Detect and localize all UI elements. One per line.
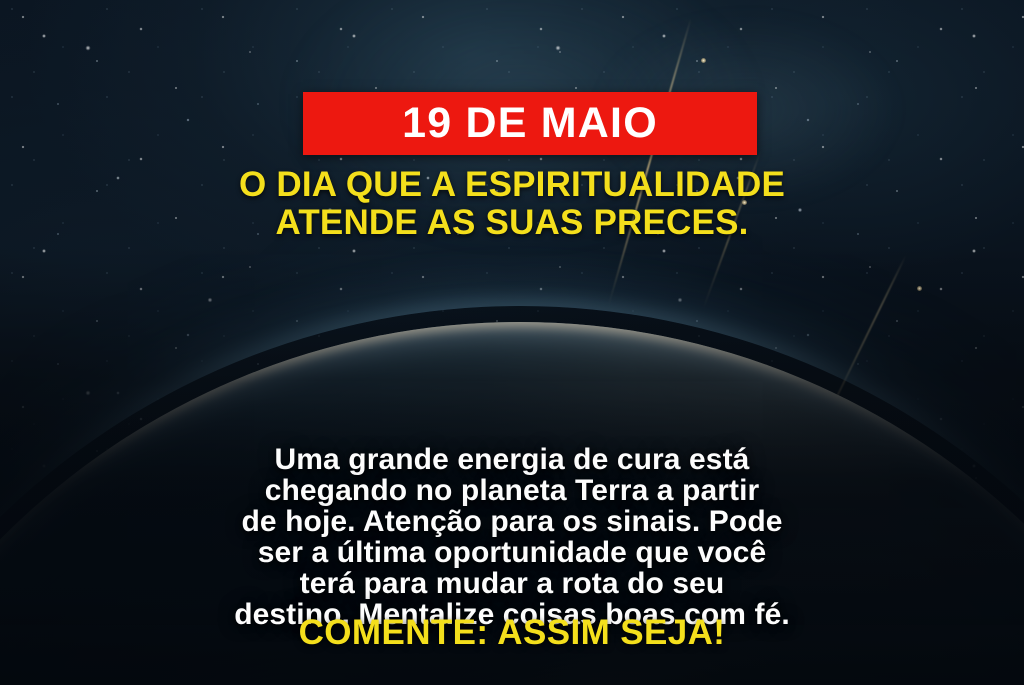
body-line-1: Uma grande energia de cura está bbox=[0, 444, 1024, 475]
headline-line-2: ATENDE AS SUAS PRECES. bbox=[0, 204, 1024, 242]
body-copy: Uma grande energia de cura está chegando… bbox=[0, 444, 1024, 630]
body-line-2: chegando no planeta Terra a partir bbox=[0, 475, 1024, 506]
body-line-3: de hoje. Atenção para os sinais. Pode bbox=[0, 506, 1024, 537]
date-banner-label: 19 DE MAIO bbox=[402, 102, 658, 145]
call-to-action: COMENTE: ASSIM SEJA! bbox=[0, 614, 1024, 652]
headline-line-1: O DIA QUE A ESPIRITUALIDADE bbox=[0, 166, 1024, 204]
date-banner: 19 DE MAIO bbox=[303, 92, 757, 155]
poster-canvas: 19 DE MAIO O DIA QUE A ESPIRITUALIDADE A… bbox=[0, 0, 1024, 685]
body-line-5: terá para mudar a rota do seu bbox=[0, 568, 1024, 599]
headline: O DIA QUE A ESPIRITUALIDADE ATENDE AS SU… bbox=[0, 166, 1024, 242]
body-line-4: ser a última oportunidade que você bbox=[0, 537, 1024, 568]
poster-content: 19 DE MAIO O DIA QUE A ESPIRITUALIDADE A… bbox=[0, 0, 1024, 685]
